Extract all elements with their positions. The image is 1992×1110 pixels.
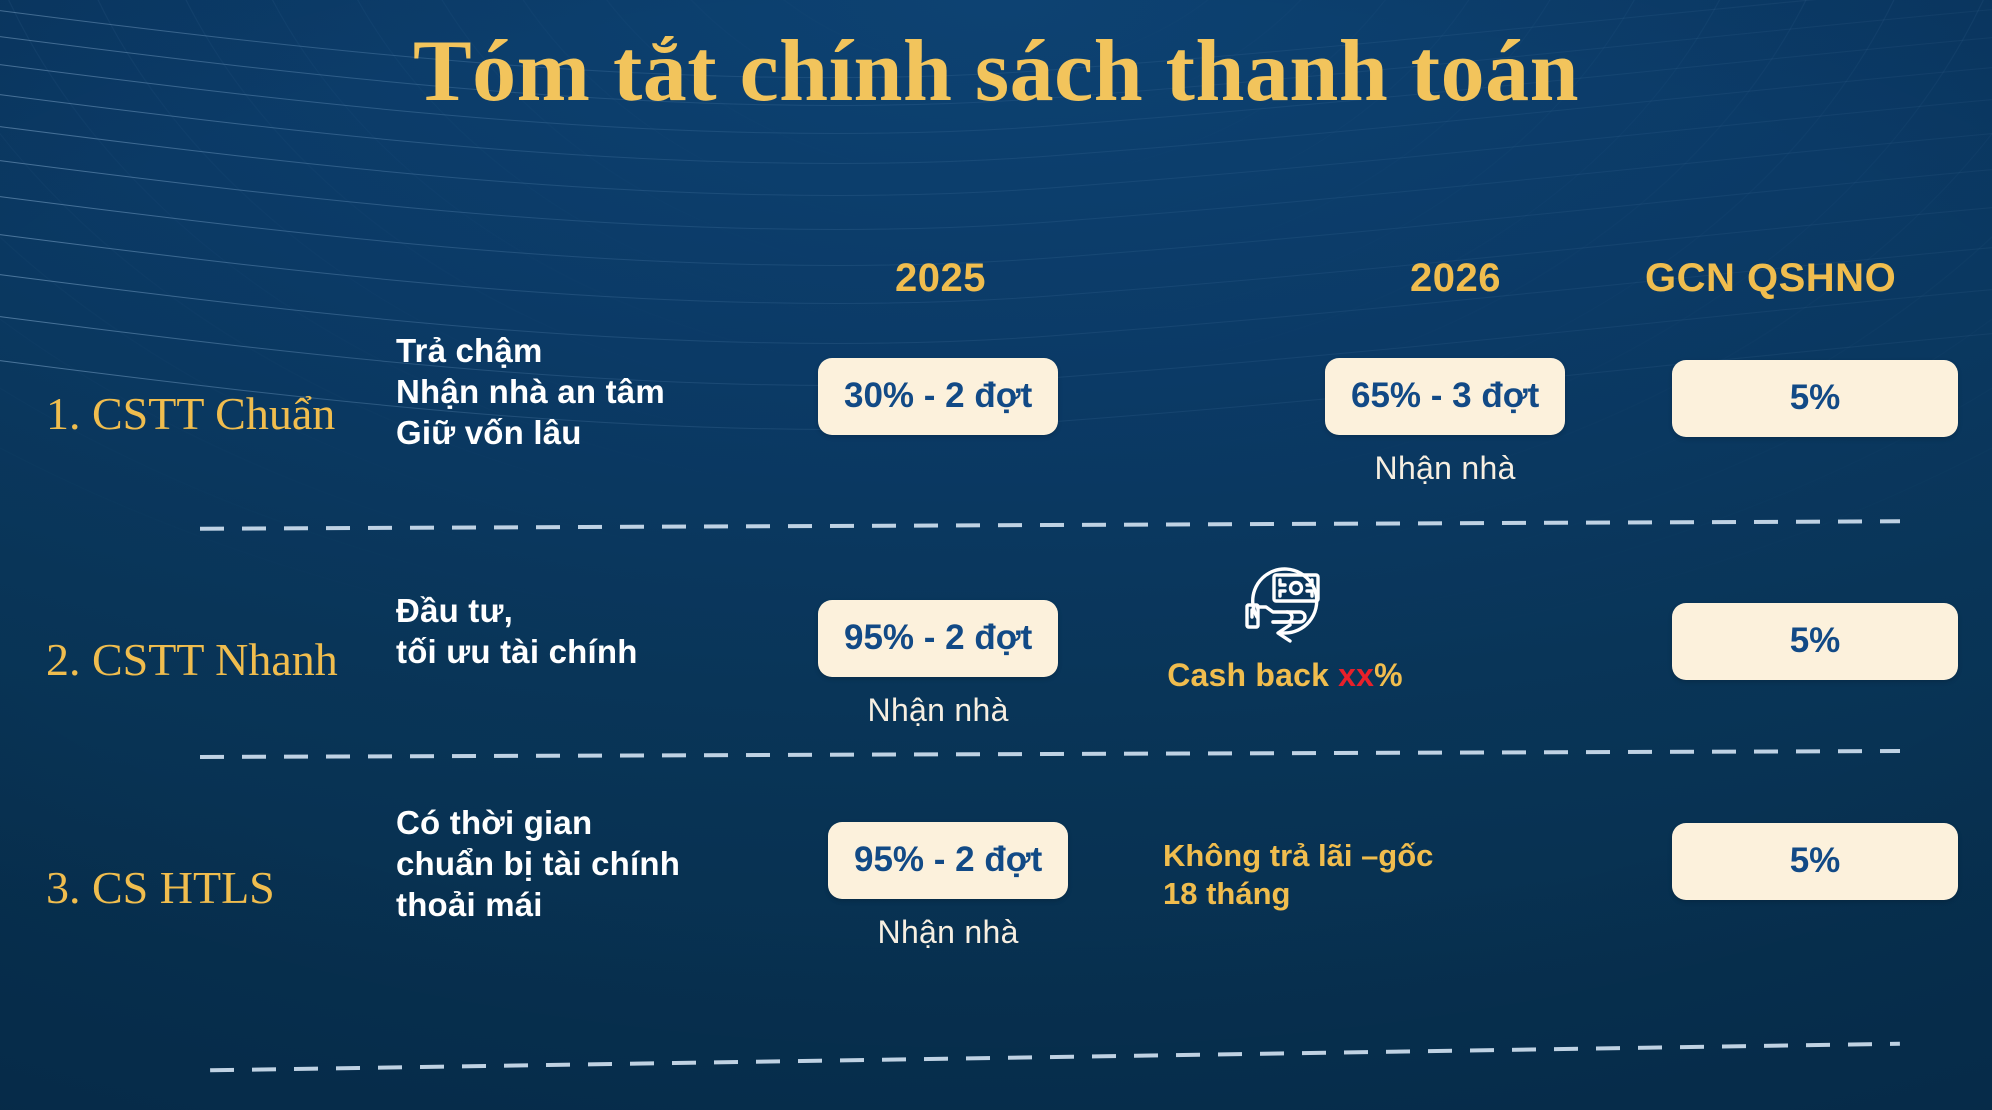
row-1-description: Trả chậmNhận nhà an tâmGiữ vốn lâu <box>396 331 796 454</box>
row-3-name: 3. CS HTLS <box>46 863 376 914</box>
page-title: Tóm tắt chính sách thanh toán <box>0 26 1992 118</box>
cash-back-percent: % <box>1374 657 1403 693</box>
row-3-cell-gcn: 5% <box>1672 823 1958 900</box>
row-3-cell-2026: Không trả lãi –gốc18 tháng <box>1163 837 1433 913</box>
row-3-caption-2025: Nhận nhà <box>828 914 1068 951</box>
policy-row-1: 1. CSTT Chuẩn Trả chậmNhận nhà an tâmGiữ… <box>0 305 1992 510</box>
column-header-2025: 2025 <box>895 256 986 301</box>
row-1-pill-2025[interactable]: 30% - 2 đợt <box>818 358 1058 435</box>
column-header-gcn-qshno: GCN QSHNO <box>1645 256 1896 301</box>
column-header-2026: 2026 <box>1410 256 1501 301</box>
policy-row-3: 3. CS HTLS Có thời gianchuẩn bị tài chín… <box>0 775 1992 1010</box>
row-2-cell-gcn: 5% <box>1672 603 1958 680</box>
row-1-cell-2025: 30% - 2 đợt <box>818 358 1058 435</box>
row-3-note-2026: Không trả lãi –gốc18 tháng <box>1163 837 1433 913</box>
row-3-description: Có thời gianchuẩn bị tài chínhthoải mái <box>396 803 796 926</box>
cash-back-label: Cash back xx% <box>1140 657 1430 694</box>
row-2-pill-gcn[interactable]: 5% <box>1672 603 1958 680</box>
row-2-caption-2025: Nhận nhà <box>818 692 1058 729</box>
row-2-cell-2026: Cash back xx% <box>1140 555 1430 694</box>
row-2-name: 2. CSTT Nhanh <box>46 635 376 686</box>
row-3-pill-gcn[interactable]: 5% <box>1672 823 1958 900</box>
row-3-pill-2025[interactable]: 95% - 2 đợt <box>828 822 1068 899</box>
policy-row-2: 2. CSTT Nhanh Đầu tư,tối ưu tài chính 95… <box>0 555 1992 750</box>
row-1-name: 1. CSTT Chuẩn <box>46 389 376 440</box>
row-3-cell-2025: 95% - 2 đợt Nhận nhà <box>828 822 1068 951</box>
row-1-pill-gcn[interactable]: 5% <box>1672 360 1958 437</box>
cash-back-xx: xx <box>1338 657 1374 693</box>
row-2-description: Đầu tư,tối ưu tài chính <box>396 591 796 673</box>
row-2-pill-2025[interactable]: 95% - 2 đợt <box>818 600 1058 677</box>
row-1-caption-2026: Nhận nhà <box>1325 450 1565 487</box>
row-2-cell-2025: 95% - 2 đợt Nhận nhà <box>818 600 1058 729</box>
row-1-cell-2026: 65% - 3 đợt Nhận nhà <box>1325 358 1565 487</box>
row-1-pill-2026[interactable]: 65% - 3 đợt <box>1325 358 1565 435</box>
row-1-cell-gcn: 5% <box>1672 360 1958 437</box>
cash-back-icon <box>1233 555 1337 647</box>
cash-back-text: Cash back <box>1167 657 1338 693</box>
